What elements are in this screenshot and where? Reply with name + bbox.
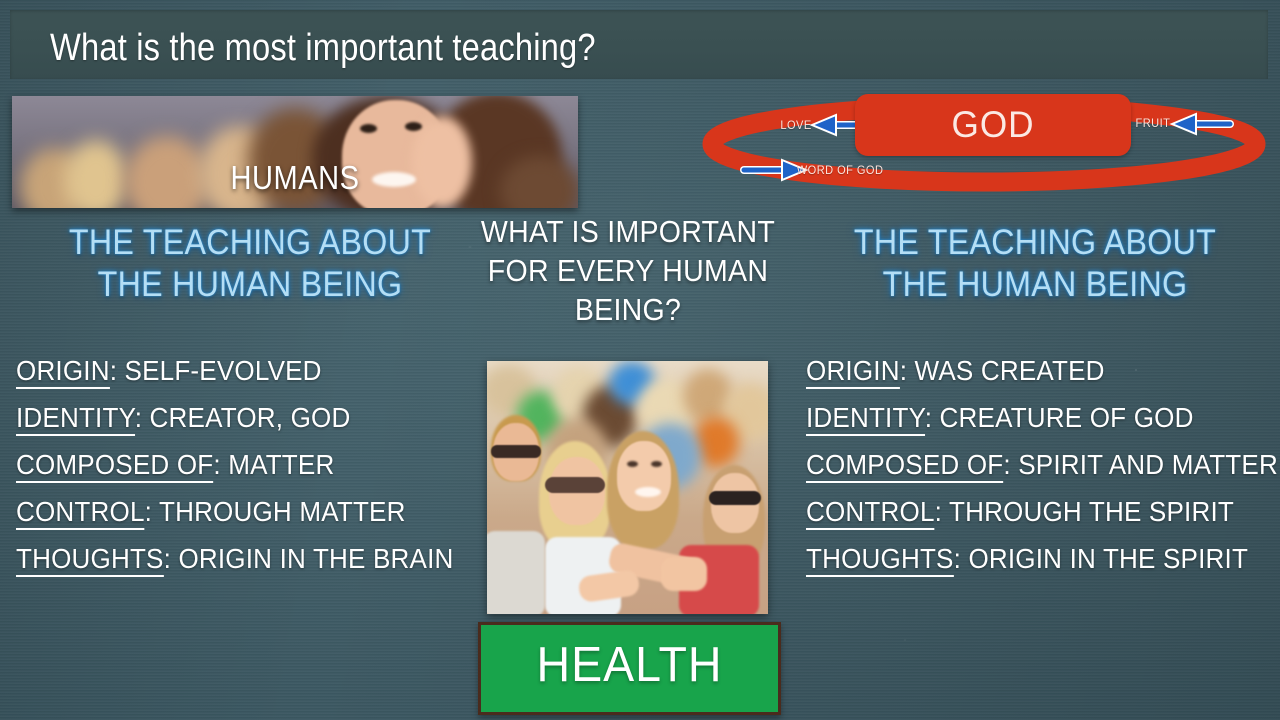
fact-value: : ORIGIN IN THE BRAIN	[164, 543, 454, 574]
fact-row: IDENTITY: CREATOR, GOD	[16, 402, 453, 434]
fact-row: COMPOSED OF: MATTER	[16, 449, 453, 481]
center-column-heading: WHAT IS IMPORTANT FOR EVERY HUMAN BEING?	[475, 212, 780, 329]
crowd-hand	[661, 557, 707, 591]
left-heading-line-1: THE TEACHING ABOUT	[29, 222, 471, 264]
fact-row: CONTROL: THROUGH MATTER	[16, 496, 453, 528]
sunglasses-icon	[709, 491, 761, 505]
fact-key: IDENTITY	[806, 402, 925, 436]
fact-value: : WAS CREATED	[900, 355, 1105, 386]
fact-value: : THROUGH THE SPIRIT	[935, 496, 1234, 527]
humans-photo: HUMANS	[12, 96, 578, 208]
center-heading-line-3: BEING?	[475, 290, 780, 329]
right-fact-list: ORIGIN: WAS CREATED IDENTITY: CREATURE O…	[806, 355, 1276, 590]
fact-key: CONTROL	[806, 496, 935, 530]
right-heading-line-1: THE TEACHING ABOUT	[819, 222, 1251, 264]
ring-label-fruit: FRUIT	[1136, 116, 1171, 130]
crowd-clothing	[487, 531, 545, 614]
fact-row: ORIGIN: SELF-EVOLVED	[16, 355, 453, 387]
god-box: GOD	[855, 94, 1131, 156]
fact-row: CONTROL: THROUGH THE SPIRIT	[806, 496, 1243, 528]
fact-row: THOUGHTS: ORIGIN IN THE SPIRIT	[806, 543, 1243, 575]
fact-key: COMPOSED OF	[806, 449, 1003, 483]
fact-key: ORIGIN	[16, 355, 110, 389]
right-heading-line-2: THE HUMAN BEING	[819, 264, 1251, 306]
fact-value: : THROUGH MATTER	[145, 496, 406, 527]
photo-eye	[405, 122, 422, 131]
fact-value: : SELF-EVOLVED	[110, 355, 322, 386]
sunglasses-icon	[491, 445, 541, 458]
left-fact-list: ORIGIN: SELF-EVOLVED IDENTITY: CREATOR, …	[16, 355, 486, 590]
fact-key: CONTROL	[16, 496, 145, 530]
fact-value: : SPIRIT AND MATTER	[1003, 449, 1278, 480]
photo-eye	[360, 124, 377, 133]
health-button[interactable]: HEALTH	[478, 622, 781, 715]
fact-key: IDENTITY	[16, 402, 135, 436]
ring-label-word-of-god: WORD OF GOD	[797, 163, 884, 177]
ring-label-love: LOVE	[780, 118, 811, 132]
fact-key: THOUGHTS	[806, 543, 954, 577]
fact-key: ORIGIN	[806, 355, 900, 389]
slide-canvas: What is the most important teaching? HUM…	[0, 0, 1280, 720]
fact-row: IDENTITY: CREATURE OF GOD	[806, 402, 1243, 434]
fact-value: : CREATURE OF GOD	[925, 402, 1194, 433]
left-column-heading: THE TEACHING ABOUT THE HUMAN BEING	[29, 222, 471, 306]
crowd-face	[617, 441, 671, 511]
title-band: What is the most important teaching?	[10, 10, 1268, 79]
humans-label: HUMANS	[46, 159, 544, 197]
fact-row: ORIGIN: WAS CREATED	[806, 355, 1243, 387]
fact-value: : ORIGIN IN THE SPIRIT	[954, 543, 1248, 574]
fact-key: COMPOSED OF	[16, 449, 213, 483]
fact-value: : MATTER	[213, 449, 334, 480]
crowd-eye	[627, 461, 638, 467]
crowd-eye	[651, 461, 662, 467]
god-label: GOD	[862, 94, 1124, 156]
center-heading-line-1: WHAT IS IMPORTANT	[475, 212, 780, 251]
right-column-heading: THE TEACHING ABOUT THE HUMAN BEING	[819, 222, 1251, 306]
health-label: HEALTH	[488, 625, 770, 706]
crowd-photo	[487, 361, 768, 614]
god-diagram: GOD LOVE WORD OF GOD FRUIT	[700, 88, 1268, 203]
fact-row: THOUGHTS: ORIGIN IN THE BRAIN	[16, 543, 453, 575]
crowd-smile	[635, 487, 661, 497]
fact-value: : CREATOR, GOD	[135, 402, 351, 433]
center-heading-line-2: FOR EVERY HUMAN	[475, 251, 780, 290]
fact-row: COMPOSED OF: SPIRIT AND MATTER	[806, 449, 1243, 481]
fact-key: THOUGHTS	[16, 543, 164, 577]
sunglasses-icon	[545, 477, 605, 493]
left-heading-line-2: THE HUMAN BEING	[29, 264, 471, 306]
page-title: What is the most important teaching?	[50, 26, 596, 70]
